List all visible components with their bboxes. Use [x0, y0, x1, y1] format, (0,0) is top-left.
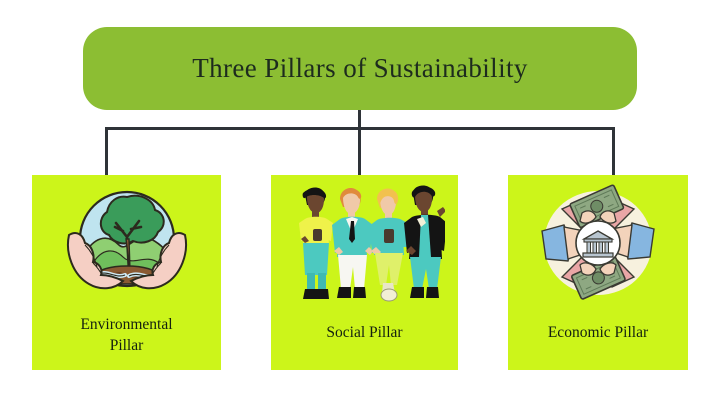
connector-drop-left — [105, 127, 108, 175]
connector-drop-right — [612, 127, 615, 175]
page-title: Three Pillars of Sustainability — [192, 53, 528, 84]
four-people-standing-icon — [285, 181, 445, 311]
pillar-label-social: Social Pillar — [271, 323, 458, 344]
pillar-label-line2: Pillar — [110, 337, 144, 354]
pillar-label-environmental: Environmental Pillar — [32, 315, 221, 357]
hands-exchanging-money-bank-icon — [538, 183, 658, 303]
pillar-card-environmental[interactable]: Environmental Pillar — [32, 175, 221, 370]
pillar-label-economic: Economic Pillar — [508, 323, 688, 344]
diagram-title-box: Three Pillars of Sustainability — [83, 27, 637, 110]
hands-holding-tree-earth-icon — [63, 183, 191, 301]
connector-drop-middle — [358, 127, 361, 175]
pillar-card-economic[interactable]: Economic Pillar — [508, 175, 688, 370]
pillar-card-social[interactable]: Social Pillar — [271, 175, 458, 370]
pillar-label-line1: Environmental — [80, 316, 172, 333]
diagram-canvas: Three Pillars of Sustainability — [0, 0, 720, 409]
